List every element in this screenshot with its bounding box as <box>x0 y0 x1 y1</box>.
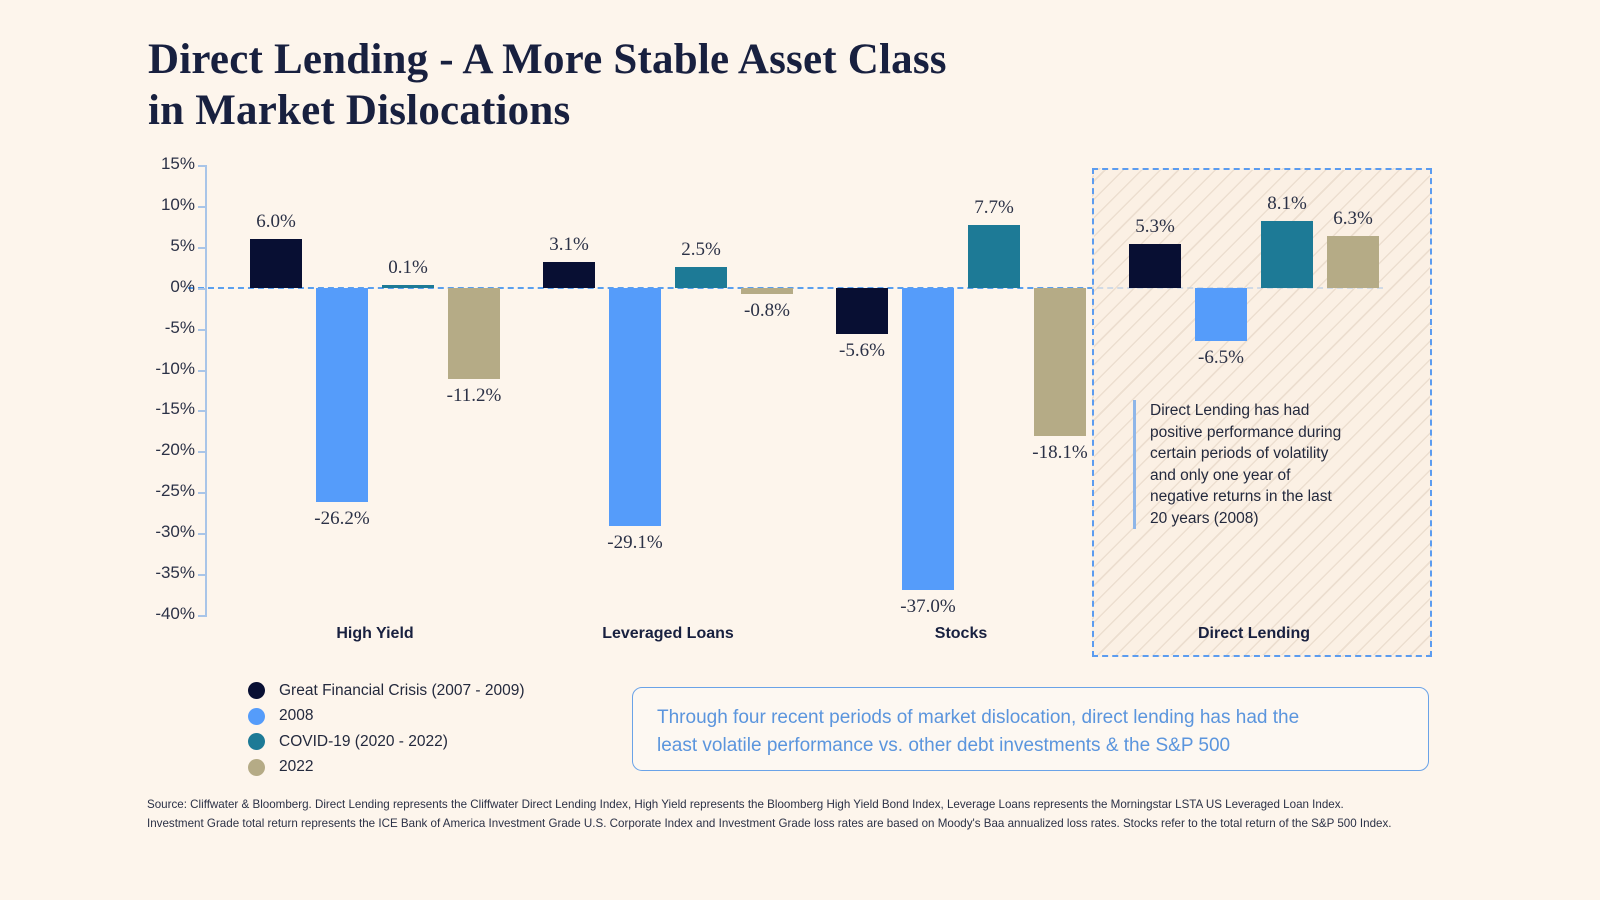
y-axis-tick-label: 10% <box>135 195 195 215</box>
y-axis-tick-label: 5% <box>135 236 195 256</box>
category-label-high-yield: High Yield <box>245 625 505 643</box>
bar-leveraged-loans-3[interactable] <box>741 288 793 295</box>
direct-lending-annotation: Direct Lending has had positive performa… <box>1133 400 1373 529</box>
bar-slot: 6.3% <box>1327 165 1379 615</box>
source-footnote: Source: Cliffwater & Bloomberg. Direct L… <box>147 795 1477 833</box>
legend-label: COVID-19 (2020 - 2022) <box>279 733 448 751</box>
bar-high-yield-1[interactable] <box>316 288 368 502</box>
bar-leveraged-loans-2[interactable] <box>675 267 727 287</box>
legend-item-3[interactable]: 2022 <box>248 755 525 781</box>
bar-group-stocks: -5.6%-37.0%7.7%-18.1%Stocks <box>836 165 1086 615</box>
legend-swatch-icon <box>248 759 265 776</box>
legend-item-1[interactable]: 2008 <box>248 704 525 730</box>
page-title: Direct Lending - A More Stable Asset Cla… <box>148 34 1148 136</box>
legend-item-0[interactable]: Great Financial Crisis (2007 - 2009) <box>248 678 525 704</box>
legend-item-2[interactable]: COVID-19 (2020 - 2022) <box>248 729 525 755</box>
bar-slot: -11.2% <box>448 165 500 615</box>
bar-slot: -29.1% <box>609 165 661 615</box>
bar-stocks-3[interactable] <box>1034 288 1086 436</box>
bar-direct-lending-2[interactable] <box>1261 221 1313 287</box>
bar-direct-lending-3[interactable] <box>1327 236 1379 288</box>
bar-group-high-yield: 6.0%-26.2%0.1%-11.2%High Yield <box>250 165 500 615</box>
y-axis-tick-label: -10% <box>135 359 195 379</box>
bar-direct-lending-1[interactable] <box>1195 288 1247 341</box>
bar-high-yield-3[interactable] <box>448 288 500 380</box>
bar-slot: -26.2% <box>316 165 368 615</box>
y-axis-tick-label: -35% <box>135 563 195 583</box>
category-label-leveraged-loans: Leveraged Loans <box>538 625 798 643</box>
y-axis-tick-label: 0% <box>135 277 195 297</box>
y-axis-tick-label: -5% <box>135 318 195 338</box>
category-label-direct-lending: Direct Lending <box>1124 625 1384 643</box>
y-axis-tick-label: -25% <box>135 481 195 501</box>
legend-swatch-icon <box>248 708 265 725</box>
bar-value-label: -18.1% <box>1000 442 1120 464</box>
legend-swatch-icon <box>248 733 265 750</box>
bar-slot: -6.5% <box>1195 165 1247 615</box>
bar-value-label: 6.3% <box>1293 208 1413 230</box>
bar-slot: 5.3% <box>1129 165 1181 615</box>
bar-slot: -0.8% <box>741 165 793 615</box>
plot-area: 6.0%-26.2%0.1%-11.2%High Yield3.1%-29.1%… <box>205 165 1433 615</box>
legend: Great Financial Crisis (2007 - 2009)2008… <box>248 678 525 780</box>
chart-page: Direct Lending - A More Stable Asset Cla… <box>0 0 1600 900</box>
bar-stocks-2[interactable] <box>968 225 1020 288</box>
bar-value-label: -0.8% <box>707 300 827 322</box>
summary-callout-text: Through four recent periods of market di… <box>657 704 1404 760</box>
legend-label: 2008 <box>279 707 313 725</box>
bar-high-yield-0[interactable] <box>250 239 302 288</box>
bar-slot: -18.1% <box>1034 165 1086 615</box>
y-axis-tick-mark <box>198 615 207 617</box>
y-axis-tick-label: -15% <box>135 399 195 419</box>
bar-slot: -5.6% <box>836 165 888 615</box>
y-axis-tick-label: -30% <box>135 522 195 542</box>
bar-value-label: -11.2% <box>414 385 534 407</box>
bar-slot: -37.0% <box>902 165 954 615</box>
bar-high-yield-2[interactable] <box>382 285 434 288</box>
bar-slot: 2.5% <box>675 165 727 615</box>
bar-group-direct-lending: 5.3%-6.5%8.1%6.3%Direct Lending <box>1129 165 1379 615</box>
bar-direct-lending-0[interactable] <box>1129 244 1181 287</box>
y-axis-tick-label: 15% <box>135 154 195 174</box>
bar-leveraged-loans-1[interactable] <box>609 288 661 526</box>
legend-label: 2022 <box>279 758 313 776</box>
bar-group-leveraged-loans: 3.1%-29.1%2.5%-0.8%Leveraged Loans <box>543 165 793 615</box>
bar-stocks-0[interactable] <box>836 288 888 334</box>
bar-slot: 7.7% <box>968 165 1020 615</box>
bar-leveraged-loans-0[interactable] <box>543 262 595 287</box>
bar-slot: 6.0% <box>250 165 302 615</box>
y-axis-tick-label: -40% <box>135 604 195 624</box>
category-label-stocks: Stocks <box>831 625 1091 643</box>
legend-swatch-icon <box>248 682 265 699</box>
bar-slot: 8.1% <box>1261 165 1313 615</box>
bar-stocks-1[interactable] <box>902 288 954 591</box>
legend-label: Great Financial Crisis (2007 - 2009) <box>279 682 525 700</box>
summary-callout: Through four recent periods of market di… <box>632 687 1429 771</box>
y-axis-tick-label: -20% <box>135 440 195 460</box>
